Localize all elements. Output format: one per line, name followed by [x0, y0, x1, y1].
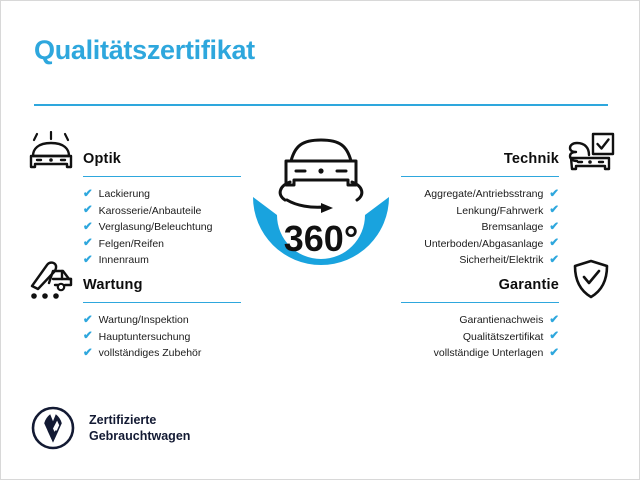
check-icon: ✔	[549, 315, 559, 327]
check-icon: ✔	[83, 331, 93, 343]
list-item-label: Hauptuntersuchung	[99, 329, 191, 346]
shield-check-icon	[565, 257, 617, 301]
section-wartung: Wartung ✔Wartung/Inspektion ✔Hauptunters…	[25, 257, 241, 362]
list-item-label: Aggregate/Antriebsstrang	[424, 186, 543, 203]
list-item-label: vollständiges Zubehör	[99, 345, 202, 362]
page-title: Qualitätszertifikat	[34, 35, 255, 66]
list-item-label: Lenkung/Fahrwerk	[456, 203, 543, 220]
list-item: ✔Bremsanlage	[401, 219, 559, 236]
list-item-label: Bremsanlage	[481, 219, 543, 236]
section-title-wartung: Wartung	[83, 277, 143, 293]
list-item: ✔Qualitätszertifikat	[401, 329, 559, 346]
section-technik: Technik ✔Aggregate/Antriebsstrang ✔Lenku…	[401, 131, 617, 269]
list-item: ✔Aggregate/Antriebsstrang	[401, 186, 559, 203]
check-icon: ✔	[83, 189, 93, 201]
section-title-technik: Technik	[504, 151, 559, 167]
list-item: ✔Lenkung/Fahrwerk	[401, 203, 559, 220]
badge-360-gebrauchtwagen-check: 360° Gebrauchtwagen-Check	[229, 119, 413, 319]
check-icon: ✔	[549, 348, 559, 360]
section-optik: Optik ✔Lackierung ✔Karosserie/Anbauteile…	[25, 131, 241, 269]
list-item: ✔Felgen/Reifen	[83, 236, 241, 253]
check-icon: ✔	[549, 222, 559, 234]
section-title-optik: Optik	[83, 151, 121, 167]
check-icon: ✔	[83, 205, 93, 217]
check-icon: ✔	[549, 331, 559, 343]
list-item-label: Unterboden/Abgasanlage	[424, 236, 543, 253]
list-item-label: Lackierung	[99, 186, 150, 203]
title-divider	[34, 104, 608, 106]
footer-text: Zertifizierte Gebrauchtwagen	[89, 412, 190, 444]
check-icon: ✔	[549, 205, 559, 217]
list-item-label: Karosserie/Anbauteile	[99, 203, 202, 220]
section-header-optik: Optik	[25, 131, 241, 177]
section-header-technik: Technik	[401, 131, 617, 177]
list-item: ✔Lackierung	[83, 186, 241, 203]
list-item: ✔Verglasung/Beleuchtung	[83, 219, 241, 236]
list-item: ✔vollständige Unterlagen	[401, 345, 559, 362]
list-item: ✔Unterboden/Abgasanlage	[401, 236, 559, 253]
check-icon: ✔	[549, 238, 559, 250]
car-checkbox-icon	[565, 131, 617, 175]
list-item-label: Garantienachweis	[459, 312, 543, 329]
check-icon: ✔	[549, 189, 559, 201]
car-wrench-icon	[25, 257, 77, 301]
checklist-optik: ✔Lackierung ✔Karosserie/Anbauteile ✔Verg…	[83, 177, 241, 269]
car-rotate-icon	[280, 140, 362, 207]
section-header-wartung: Wartung	[25, 257, 241, 303]
list-item: ✔Hauptuntersuchung	[83, 329, 241, 346]
list-item: ✔Karosserie/Anbauteile	[83, 203, 241, 220]
badge-center-label: 360°	[284, 218, 358, 259]
checklist-technik: ✔Aggregate/Antriebsstrang ✔Lenkung/Fahrw…	[401, 177, 559, 269]
checklist-wartung: ✔Wartung/Inspektion ✔Hauptuntersuchung ✔…	[83, 303, 241, 362]
check-icon: ✔	[83, 222, 93, 234]
list-item-label: Qualitätszertifikat	[463, 329, 544, 346]
check-icon: ✔	[83, 348, 93, 360]
check-icon: ✔	[83, 238, 93, 250]
footer-line-1: Zertifizierte	[89, 412, 190, 428]
section-title-garantie: Garantie	[499, 277, 559, 293]
list-item-label: vollständige Unterlagen	[434, 345, 544, 362]
footer-line-2: Gebrauchtwagen	[89, 428, 190, 444]
list-item-label: Verglasung/Beleuchtung	[99, 219, 213, 236]
car-shine-icon	[25, 131, 77, 175]
section-garantie: Garantie ✔Garantienachweis ✔Qualitätszer…	[401, 257, 617, 362]
list-item-label: Felgen/Reifen	[99, 236, 164, 253]
list-item-label: Wartung/Inspektion	[99, 312, 189, 329]
certificate-page: Qualitätszertifikat	[0, 0, 640, 480]
volkswagen-logo	[31, 406, 75, 450]
list-item: ✔Wartung/Inspektion	[83, 312, 241, 329]
check-icon: ✔	[83, 315, 93, 327]
section-header-garantie: Garantie	[401, 257, 617, 303]
list-item: ✔Garantienachweis	[401, 312, 559, 329]
list-item: ✔vollständiges Zubehör	[83, 345, 241, 362]
footer-branding: Zertifizierte Gebrauchtwagen	[31, 406, 190, 450]
checklist-garantie: ✔Garantienachweis ✔Qualitätszertifikat ✔…	[401, 303, 559, 362]
